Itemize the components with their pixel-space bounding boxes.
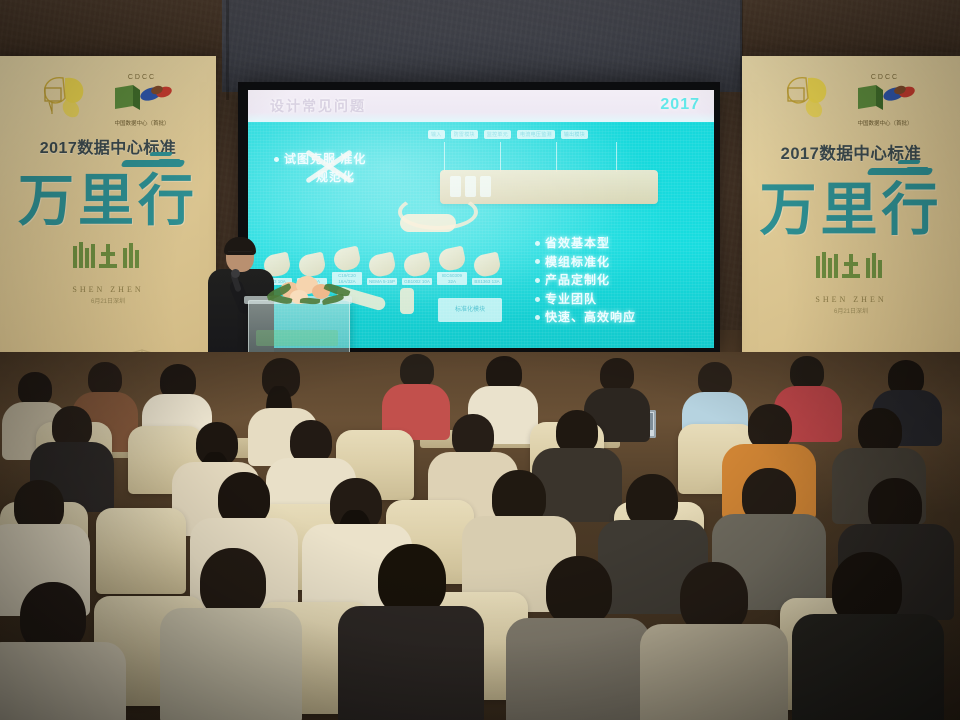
pdu-diagram (440, 170, 658, 204)
connector-icon (437, 246, 467, 273)
connector-icon (472, 251, 502, 278)
callout-stem (500, 142, 501, 172)
cross-out-icon (302, 146, 356, 186)
glasses-icon (228, 251, 252, 257)
slide-right-bullets: 省效基本型 模组标准化 产品定制化 专业团队 快速、高效响应 (535, 234, 700, 327)
audience-torso (506, 618, 650, 720)
swoosh-tick-1 (897, 160, 921, 164)
list-item: 快速、高效响应 (535, 308, 700, 327)
diagram-callouts: 输入 防雷模块 监控单元 电流电压监测 输出模块 (428, 130, 678, 139)
chair (96, 508, 186, 594)
shenzhen-en-label: SHEN ZHEN (0, 285, 216, 294)
list-item: BS1363 13A (472, 254, 502, 286)
cable-graphic-2 (400, 288, 414, 314)
bullet-text: 快速、高效响应 (545, 308, 636, 327)
list-item: GB1002 10A (402, 254, 432, 286)
cdcc-wordmark: CDCC (107, 74, 177, 81)
cdcc-logo-icon: CDCC 中国数据中心（首批） (850, 74, 920, 126)
audience-seating (0, 352, 960, 720)
shenzhen-mark-icon (808, 248, 894, 288)
bullet-dot-icon (274, 157, 279, 162)
connector-icon (332, 246, 362, 273)
conference-photo: CDCC 中国数据中心（首批） 2017数据中心标准 万里行 (0, 0, 960, 720)
banner-right-logos: CDCC 中国数据中心（首批） (742, 74, 960, 132)
audience-head (698, 362, 732, 396)
callout-stem (556, 142, 557, 172)
shenzhen-en-label: SHEN ZHEN (742, 295, 960, 304)
shenzhen-date-label: 6月21日深圳 (742, 306, 960, 315)
slide-year-badge: 2017 (660, 96, 700, 114)
audience-torso (338, 606, 484, 720)
bullet-text: 模组标准化 (545, 253, 610, 272)
small-box-label: 标准化模块 (438, 298, 502, 322)
bullet-dot-icon (535, 297, 540, 302)
connector-label: IEC60309 32A (437, 272, 467, 285)
shenzhen-logo: SHEN ZHEN 6月21日深圳 (742, 248, 960, 315)
callout-stem (616, 142, 617, 172)
audience-torso (640, 624, 788, 720)
flower-logo-icon (782, 74, 836, 120)
shenzhen-date-label: 6月21日深圳 (0, 296, 216, 305)
audience-head (600, 358, 634, 392)
shenzhen-logo: SHEN ZHEN 6月21日深圳 (0, 238, 216, 305)
audience-head (546, 556, 612, 626)
callout-label: 防雷模块 (451, 130, 478, 139)
cdcc-logo-icon: CDCC 中国数据中心（首批） (107, 74, 177, 126)
pdu-outlet-group (450, 176, 491, 197)
banner-right-big-title: 万里行 (742, 164, 960, 246)
cdcc-caption: 中国数据中心（首批） (107, 119, 177, 127)
list-item: 省效基本型 (535, 234, 700, 253)
callout-label: 监控单元 (484, 130, 511, 139)
flower-logo-icon (39, 74, 93, 120)
bullet-dot-icon (535, 315, 540, 320)
connector-label: GB1002 10A (402, 278, 432, 286)
banner-left-title: 2017数据中心标准 (0, 134, 216, 158)
connector-label: NEMA 5-15P (367, 278, 397, 286)
callout-label: 输入 (428, 130, 445, 139)
callout-label: 电流电压监测 (517, 130, 555, 139)
audience-head (88, 362, 122, 396)
swoosh-tick-2 (905, 167, 929, 171)
shenzhen-mark-icon (65, 238, 151, 278)
connector-icon (402, 251, 432, 278)
bullet-text: 产品定制化 (545, 271, 610, 290)
list-item: 模组标准化 (535, 253, 700, 272)
list-item: IEC60309 32A (437, 248, 467, 285)
audience-head (790, 356, 824, 390)
bullet-dot-icon (535, 259, 540, 264)
connector-icon (367, 251, 397, 278)
list-item: 专业团队 (535, 290, 700, 309)
bullet-dot-icon (535, 278, 540, 283)
audience-torso (532, 448, 622, 522)
flower-arrangement (266, 272, 352, 312)
cdcc-wordmark: CDCC (850, 74, 920, 81)
banner-left-logos: CDCC 中国数据中心（首批） (0, 74, 216, 132)
bullet-text: 省效基本型 (545, 234, 610, 253)
slide-title: 设计常见问题 (270, 96, 366, 116)
microphone-head-icon (231, 269, 240, 278)
list-item: 产品定制化 (535, 271, 700, 290)
connector-label: BS1363 13A (472, 278, 502, 286)
audience-torso (792, 614, 944, 720)
slide-small-box: 标准化模块 (438, 298, 502, 322)
banner-left-big-title: 万里行 (0, 156, 216, 237)
callout-label: 输出模块 (561, 130, 588, 139)
list-item: NEMA 5-15P (367, 254, 397, 286)
swoosh-tick-1 (149, 152, 173, 156)
plug-head-icon (400, 214, 456, 232)
lectern-green-panel (256, 330, 338, 346)
bullet-text: 专业团队 (545, 290, 597, 309)
banner-right-title: 2017数据中心标准 (742, 140, 960, 164)
audience-head (400, 354, 434, 388)
cdcc-caption: 中国数据中心（首批） (850, 119, 920, 127)
swoosh-tick-2 (157, 159, 181, 163)
callout-stem (444, 142, 445, 172)
audience-torso (160, 608, 302, 720)
audience-head (18, 372, 52, 406)
bullet-dot-icon (535, 241, 540, 246)
audience-torso (0, 642, 126, 720)
